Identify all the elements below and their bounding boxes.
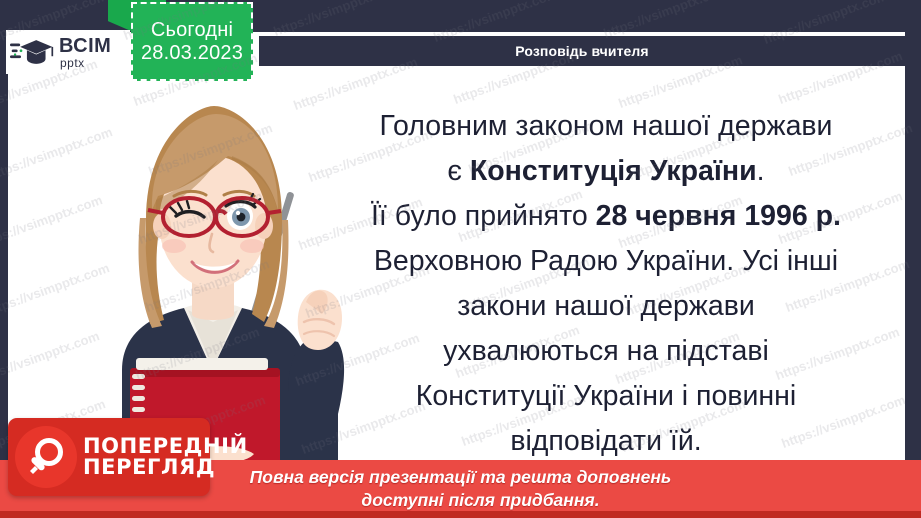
preview-badge-text: ПОПЕРЕДНІЙ ПЕРЕГЛЯД (83, 436, 248, 479)
slide-header-title: Розповідь вчителя (259, 36, 905, 66)
graduation-cap-icon (10, 37, 54, 67)
bottom-edge-strip (0, 511, 921, 518)
brand-logo: ВСІМ pptx (6, 30, 130, 74)
today-date: 28.03.2023 (141, 42, 243, 64)
body-line-8: відповідати їй. (300, 419, 912, 464)
logo-subtitle: pptx (60, 57, 111, 69)
bold-constitution: Конституція України (470, 155, 757, 187)
body-line-7: Конституції України і повинні (300, 374, 912, 419)
slide-body-text: Головним законом нашої держави є Констит… (300, 104, 912, 464)
body-line-5: закони нашої держави (300, 284, 912, 329)
today-label: Сьогодні (151, 19, 233, 41)
logo-name: ВСІМ (59, 36, 111, 56)
body-line-2: є Конституція України. (300, 149, 912, 194)
presentation-slide: ВСІМ pptx Сьогодні 28.03.2023 (0, 0, 921, 518)
banner-line-2: доступні після придбання. (321, 489, 599, 512)
preview-line-1: ПОПЕРЕДНІЙ (83, 436, 248, 457)
today-date-badge: Сьогодні 28.03.2023 (131, 2, 253, 81)
body-line-4: Верховною Радою України. Усі інші (300, 239, 912, 284)
body-line-3: Її було прийнято 28 червня 1996 р. (300, 194, 912, 239)
bold-date: 28 червня 1996 р. (596, 200, 841, 232)
body-line-6: ухвалюються на підставі (300, 329, 912, 374)
preview-badge[interactable]: ПОПЕРЕДНІЙ ПЕРЕГЛЯД (8, 418, 210, 496)
logo-text: ВСІМ pptx (59, 36, 111, 69)
body-line-2-plain: є (447, 155, 469, 187)
preview-line-2: ПЕРЕГЛЯД (83, 457, 248, 478)
banner-line-1: Повна версія презентації та решта доповн… (250, 466, 672, 489)
body-line-1: Головним законом нашої держави (300, 104, 912, 149)
magnifier-icon (15, 426, 77, 488)
